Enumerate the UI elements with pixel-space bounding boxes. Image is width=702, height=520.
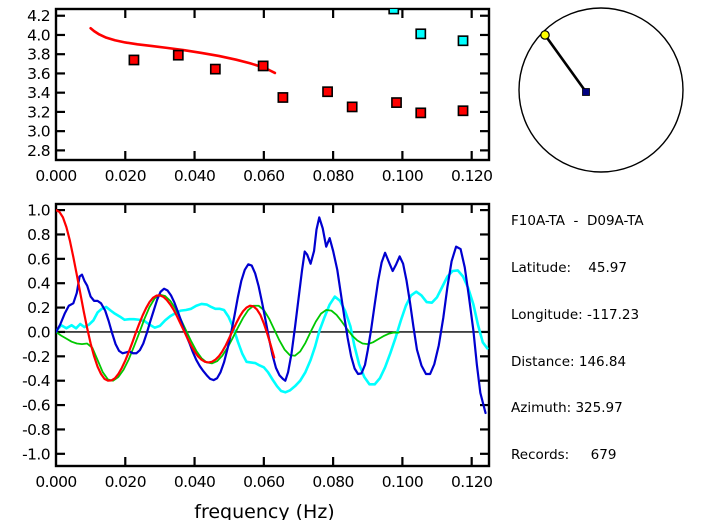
- data-point-marker: [392, 98, 401, 107]
- data-layer: [56, 210, 489, 413]
- azimuth-row: Azimuth: 325.97: [511, 401, 701, 417]
- y-tick-label: -0.4: [22, 372, 50, 390]
- x-tick-label: 0.060: [243, 473, 284, 491]
- y-tick-label: -1.0: [22, 445, 50, 463]
- y-tick-label: 1.0: [27, 202, 50, 220]
- y-tick-label: 3.8: [27, 46, 50, 64]
- x-axis-title: frequency (Hz): [194, 501, 334, 520]
- data-point-marker: [259, 61, 268, 70]
- y-tick-label: 2.8: [27, 142, 50, 160]
- y-tick-label: 0.0: [27, 323, 50, 341]
- y-tick-label: 0.2: [27, 299, 50, 317]
- great-circle-path-line: [545, 35, 586, 92]
- x-tick-label: 0.000: [35, 167, 76, 185]
- x-tick-label: 0.020: [105, 167, 146, 185]
- latitude-row: Latitude: 45.97: [511, 261, 701, 277]
- data-point-marker: [416, 29, 425, 38]
- y-tick-label: 4.2: [27, 7, 50, 25]
- records-row: Records: 679: [511, 448, 701, 464]
- y-tick-label: -0.2: [22, 348, 50, 366]
- data-layer: [91, 4, 468, 117]
- x-tick-label: 0.060: [243, 167, 284, 185]
- dispersion-plot: 0.0000.0200.0400.0600.0800.1000.1202.83.…: [0, 0, 510, 195]
- x-tick-label: 0.100: [382, 473, 423, 491]
- spectra-plot: 0.0000.0200.0400.0600.0800.1000.120-1.0-…: [0, 190, 510, 520]
- y-tick-label: 3.0: [27, 123, 50, 141]
- data-point-marker: [323, 87, 332, 96]
- data-point-marker: [348, 102, 357, 111]
- x-tick-label: 0.080: [312, 167, 353, 185]
- y-tick-label: -0.8: [22, 421, 50, 439]
- great-circle-path-inset: [510, 0, 702, 180]
- paired-station-marker: [541, 31, 549, 39]
- longitude-row: Longitude: -117.23: [511, 308, 701, 324]
- station-pair-title: F10A-TA - D09A-TA: [511, 214, 701, 230]
- data-point-marker: [416, 108, 425, 117]
- reference-station-marker: [583, 89, 590, 96]
- plot-frame: [56, 204, 489, 466]
- y-tick-label: 0.4: [27, 275, 50, 293]
- x-tick-label: 0.120: [451, 167, 492, 185]
- y-tick-label: 3.2: [27, 103, 50, 121]
- y-tick-label: 0.8: [27, 226, 50, 244]
- data-point-marker: [458, 36, 467, 45]
- data-point-marker: [129, 55, 138, 64]
- x-tick-label: 0.120: [451, 473, 492, 491]
- data-point-marker: [174, 51, 183, 60]
- y-tick-label: 4.0: [27, 26, 50, 44]
- distance-row: Distance: 146.84: [511, 355, 701, 371]
- plot-page: 0.0000.0200.0400.0600.0800.1000.1202.83.…: [0, 0, 702, 519]
- y-tick-label: 3.6: [27, 65, 50, 83]
- x-tick-label: 0.020: [105, 473, 146, 491]
- station-info-panel: F10A-TA - D09A-TA Latitude: 45.97 Longit…: [511, 183, 701, 495]
- data-point-marker: [211, 65, 220, 74]
- x-tick-label: 0.100: [382, 167, 423, 185]
- y-tick-label: 0.6: [27, 250, 50, 268]
- data-point-marker: [389, 4, 398, 13]
- y-tick-label: 3.4: [27, 84, 50, 102]
- data-point-marker: [458, 106, 467, 115]
- x-tick-label: 0.040: [174, 167, 215, 185]
- y-tick-label: -0.6: [22, 397, 50, 415]
- cross-correlation-blue: [56, 217, 486, 413]
- data-point-marker: [278, 93, 287, 102]
- x-tick-label: 0.000: [35, 473, 76, 491]
- x-tick-label: 0.080: [312, 473, 353, 491]
- x-tick-label: 0.040: [174, 473, 215, 491]
